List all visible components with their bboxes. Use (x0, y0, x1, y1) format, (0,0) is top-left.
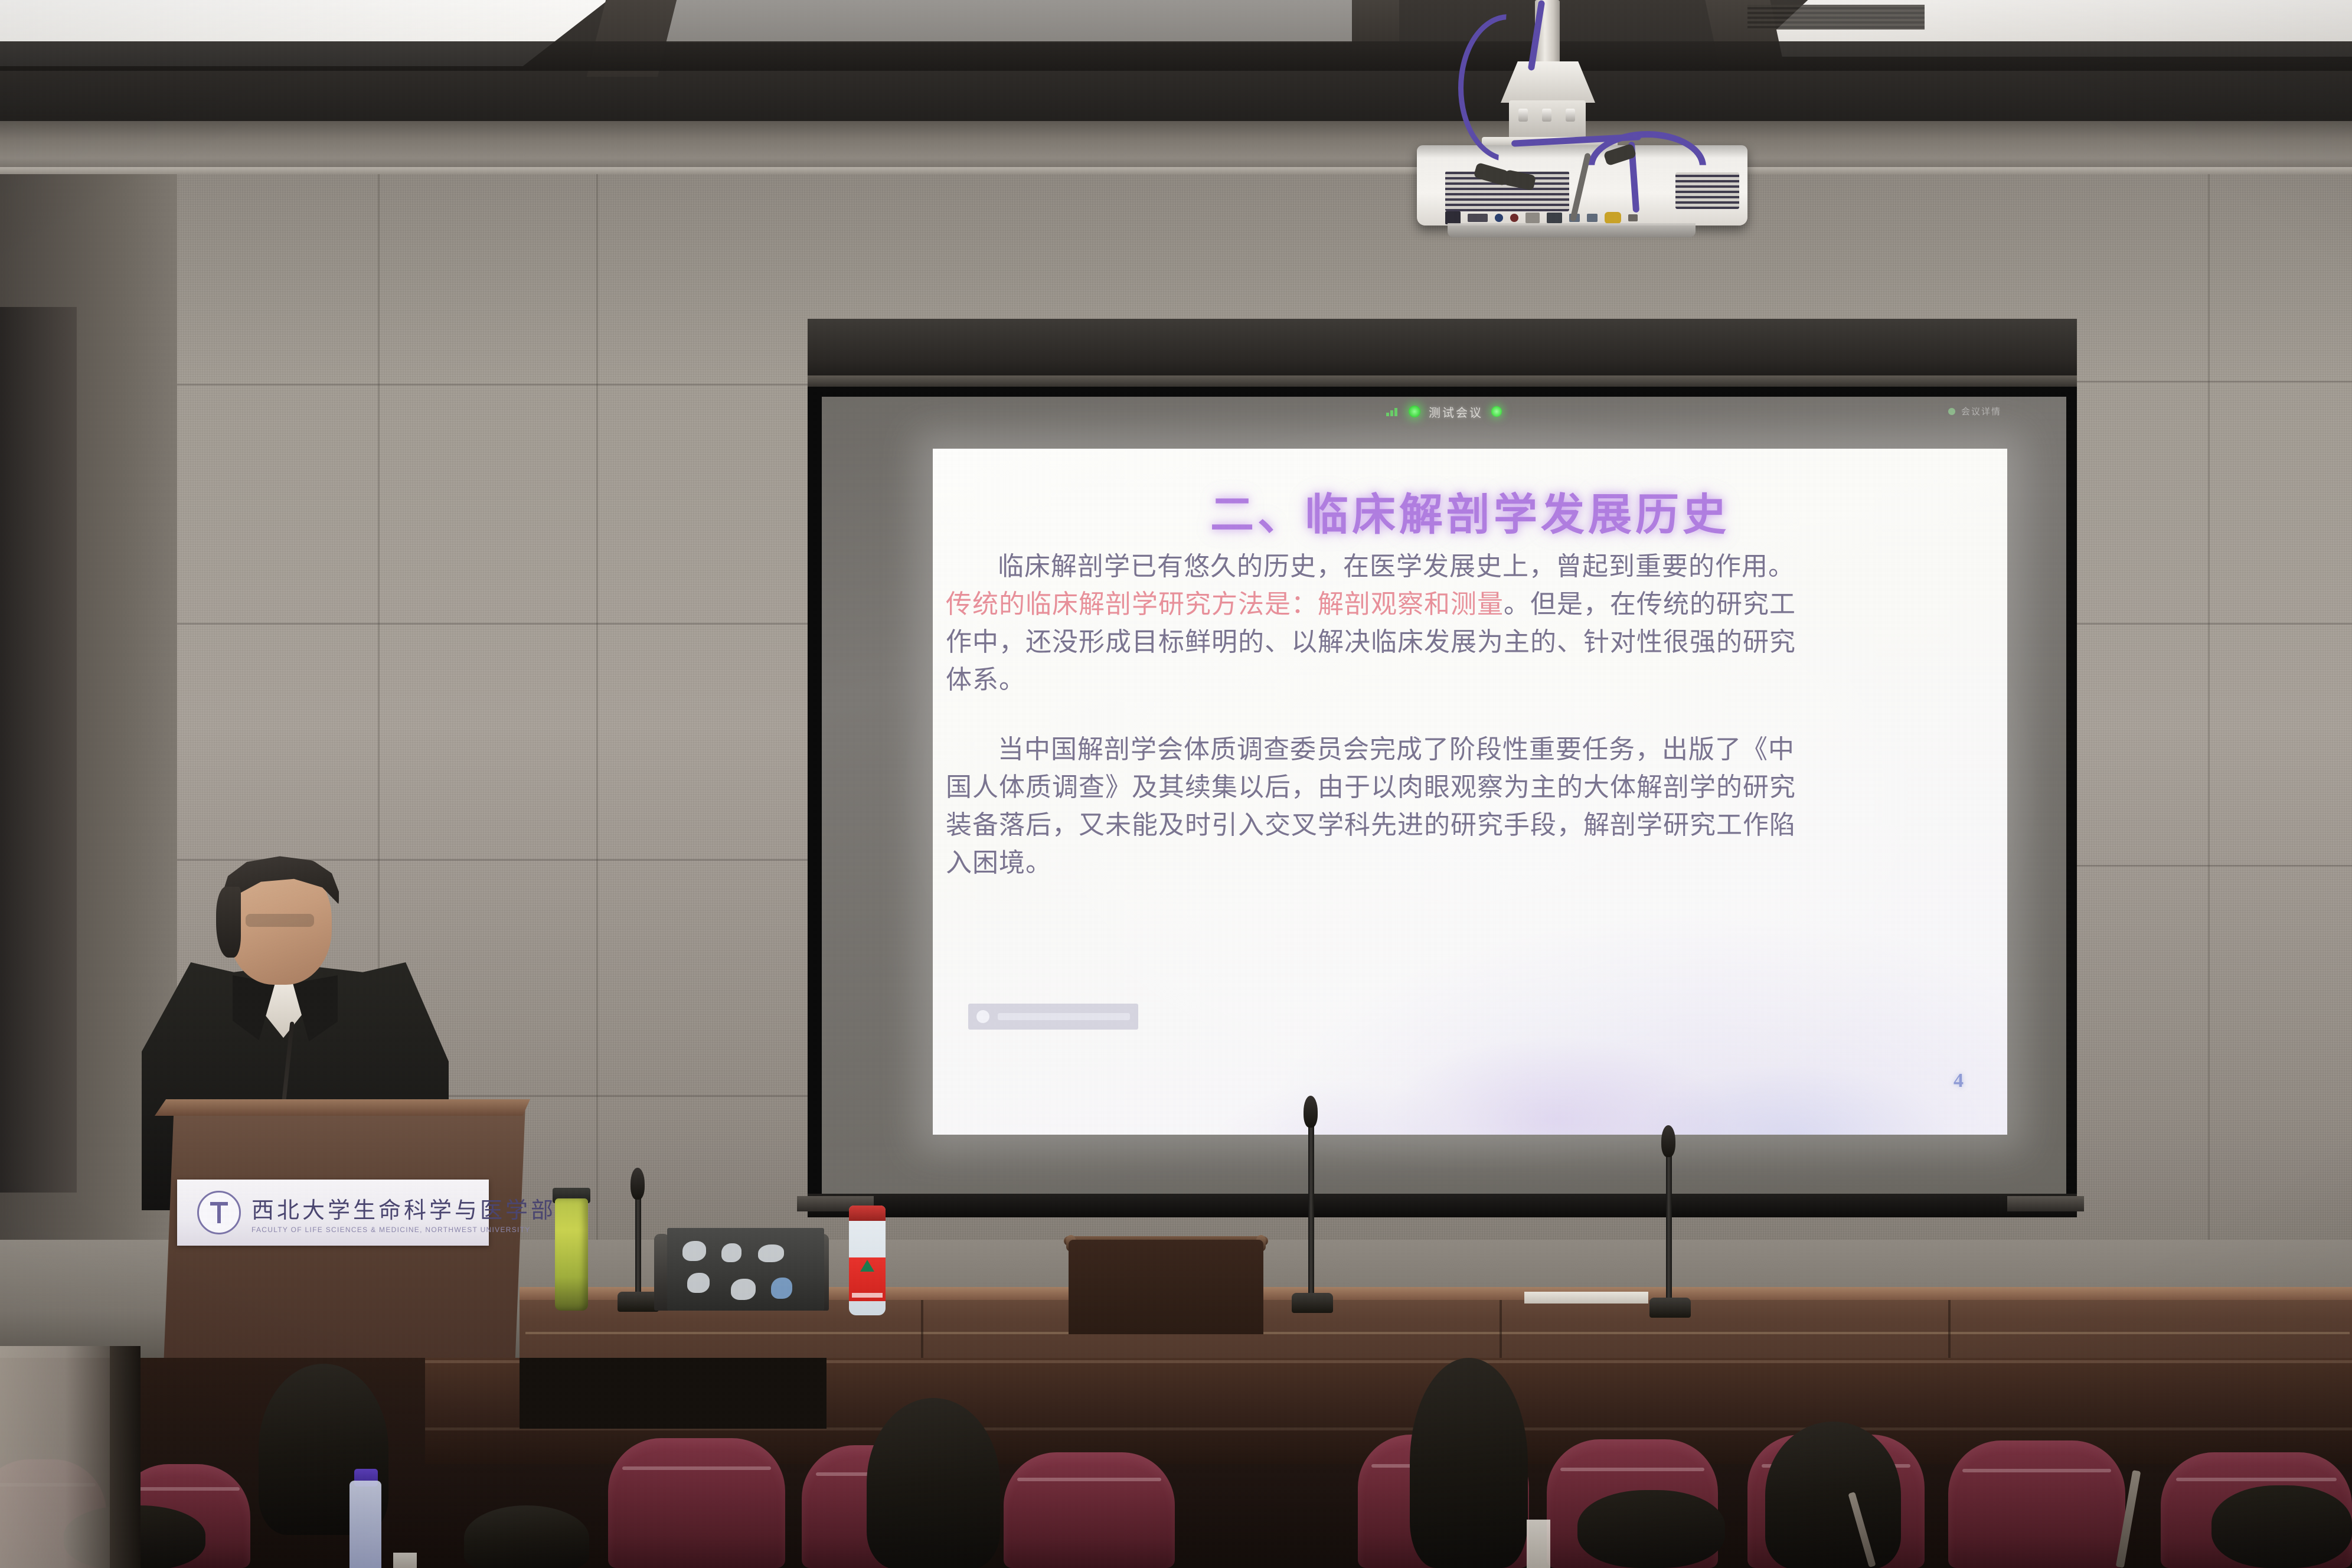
projector-port-hdmi (1525, 213, 1540, 223)
screen-bottom-weight-bar (808, 1194, 2077, 1217)
brand-leaf-icon (860, 1260, 874, 1272)
slide-p2-line1: 当中国解剖学会体质调查委员会完成了阶段性重要任务，出版了《中 (998, 735, 1795, 764)
slide-p1-line3: 作中，还没形成目标鲜明的、以解决临床发展为主的、针对性很强的研究 (946, 628, 1796, 656)
wall-panel-seam-vertical (596, 174, 598, 1325)
microphone-base (618, 1292, 659, 1312)
gooseneck-microphone-capsule (631, 1168, 645, 1200)
gooseneck-microphone-stem (1666, 1139, 1672, 1317)
skylight-panel-center (661, 0, 1358, 43)
recording-led-icon (1409, 406, 1420, 417)
watermark-text-bar (998, 1013, 1130, 1020)
audience-paper (393, 1553, 417, 1568)
ceiling-dark-band (0, 41, 2352, 71)
ceiling-soffit (0, 121, 2352, 174)
lectern-sign-chinese-text: 西北大学生命科学与医学部 (251, 1192, 556, 1224)
audience-seat[interactable] (608, 1438, 785, 1568)
gooseneck-microphone-capsule (1304, 1096, 1318, 1128)
screen-bar-end-right (2007, 1196, 2084, 1211)
mount-screw (1542, 109, 1551, 122)
audience-member-head (1765, 1422, 1901, 1568)
lecture-hall-scene: 测试会议 会议详情 二、临床解剖学发展历史 临床解剖学已有悠久的历史，在医学发展… (0, 0, 2352, 1568)
tea-thermos-bottle (555, 1198, 588, 1311)
seat-row-back-shadow (520, 1358, 827, 1429)
audience-member-head (867, 1398, 1000, 1568)
presenter-eye-area (246, 914, 314, 927)
projector-port-blank (1445, 211, 1461, 224)
slide-p1-line2-rest: 。但是，在传统的研究工 (1504, 590, 1796, 619)
sticker-covered-nameplate (667, 1228, 824, 1311)
nameplate-sticker (758, 1244, 784, 1262)
gooseneck-microphone-capsule (1661, 1125, 1675, 1157)
projector-port-serial (1628, 214, 1638, 221)
paragraph-spacer (946, 699, 1994, 731)
slide-p2-line3: 装备落后，又未能及时引入交叉学科先进的研究手段，解剖学研究工作陷 (946, 811, 1796, 839)
microphone-base (1292, 1293, 1333, 1313)
mount-screw (1566, 109, 1575, 122)
projected-slide: 二、临床解剖学发展历史 临床解剖学已有悠久的历史，在医学发展史上，曾起到重要的作… (933, 449, 2007, 1135)
mount-screw (1518, 109, 1528, 122)
left-side-wall-shadow (110, 1346, 141, 1568)
slide-background-artwork (933, 940, 2007, 1135)
slide-title: 二、临床解剖学发展历史 (933, 479, 2007, 543)
watermark-logo-icon (976, 1010, 989, 1023)
bottle-label (849, 1257, 886, 1301)
audience-member-head (464, 1505, 589, 1568)
bottle-label-text-bar (852, 1293, 883, 1298)
presenter-hair-side (216, 887, 241, 958)
slide-p1-line1: 临床解剖学已有悠久的历史，在医学发展史上，曾起到重要的作用。 (998, 552, 1795, 581)
slide-watermark-badge (968, 1004, 1138, 1030)
projector-port-audio (1495, 214, 1503, 222)
slide-p1-line2-highlight: 传统的临床解剖学研究方法是：解剖观察和测量 (946, 590, 1504, 619)
audience-seat[interactable] (1948, 1440, 2125, 1568)
lectern-institution-sign: 西北大学生命科学与医学部 FACULTY OF LIFE SCIENCES & … (177, 1180, 489, 1246)
left-side-wall (0, 1346, 118, 1568)
slide-p2-line4: 入困境。 (946, 848, 1052, 877)
nameplate-sticker (731, 1279, 756, 1300)
slide-p1-line4: 体系。 (946, 665, 1025, 694)
audience-member-head (1410, 1358, 1528, 1568)
wall-panel-seam-vertical (2208, 174, 2210, 1325)
left-wall-recess (0, 307, 77, 1193)
desk-paper (1524, 1292, 1648, 1304)
stage-chair (1069, 1240, 1263, 1334)
mineral-water-bottle (849, 1206, 886, 1315)
nameplate-sticker (771, 1278, 792, 1299)
meeting-status-bar: 测试会议 (822, 397, 2066, 426)
projector-port-vga (1468, 214, 1488, 222)
slide-p2-line2: 国人体质调查》及其续集以后，由于以肉眼观察为主的大体解剖学的研究 (946, 773, 1796, 802)
audience-seat[interactable] (1004, 1452, 1175, 1568)
ceiling-air-vent (1747, 5, 1925, 30)
projection-screen-surface: 测试会议 会议详情 二、临床解剖学发展历史 临床解剖学已有悠久的历史，在医学发展… (822, 397, 2066, 1194)
nameplate-sticker (687, 1273, 710, 1293)
audience-seating-area (0, 1358, 2352, 1568)
mic-active-led-icon (1491, 406, 1502, 417)
projector-port-lan (1547, 213, 1562, 223)
audience-paper (1527, 1520, 1550, 1568)
nameplate-sticker (682, 1241, 706, 1261)
nameplate-sticker (721, 1243, 741, 1262)
meeting-status-dot-icon (1948, 408, 1955, 415)
meeting-name-label: 测试会议 (1429, 403, 1483, 420)
projector-port-power (1605, 212, 1621, 224)
projector-intake-vent (1675, 172, 1739, 209)
desk-trim-line (525, 1332, 2350, 1334)
audience-member-head (1577, 1490, 1725, 1568)
audience-member-head (2211, 1485, 2352, 1568)
projector-port-audio (1510, 214, 1518, 222)
meeting-detail-area[interactable]: 会议详情 (1948, 405, 2001, 417)
lectern-sign-english-text: FACULTY OF LIFE SCIENCES & MEDICINE, NOR… (251, 1226, 556, 1234)
lectern-top-surface (155, 1099, 530, 1116)
slide-body-text: 临床解剖学已有悠久的历史，在医学发展史上，曾起到重要的作用。 传统的临床解剖学研… (946, 548, 1994, 882)
bottle-cap (849, 1206, 886, 1221)
microphone-base (1649, 1298, 1691, 1318)
projector-mount-plate (1509, 100, 1586, 139)
projector-port-usb (1587, 214, 1598, 222)
projector-lens-housing (1448, 223, 1696, 237)
gooseneck-microphone-stem (1308, 1110, 1314, 1311)
signal-bars-icon (1386, 407, 1400, 416)
meeting-detail-label: 会议详情 (1961, 405, 2001, 417)
slide-page-number: 4 (1954, 1070, 1964, 1092)
audience-water-bottle[interactable] (349, 1481, 381, 1568)
university-crest-icon (197, 1191, 241, 1234)
